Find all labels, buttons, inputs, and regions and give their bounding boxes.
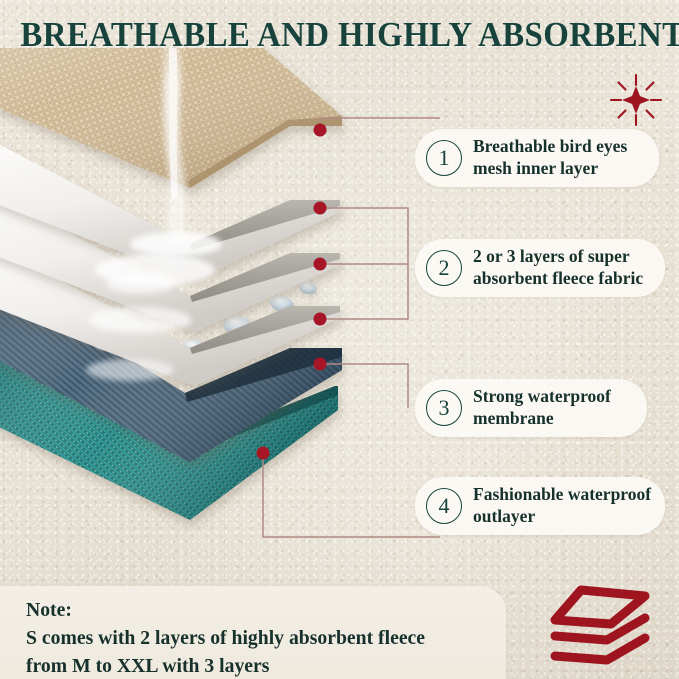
callout-3-line-1: Strong waterproof	[473, 386, 611, 408]
callout-2-text: 2 or 3 layers of super absorbent fleece …	[473, 246, 643, 290]
callout-3[interactable]: 3 Strong waterproof membrane	[415, 379, 647, 437]
callout-4-line-2: outlayer	[473, 506, 651, 528]
note-line-2: from M to XXL with 3 layers	[26, 652, 425, 679]
callout-3-text: Strong waterproof membrane	[473, 386, 611, 430]
product-infographic: BREATHABLE AND HIGHLY ABSORBENT	[0, 0, 679, 679]
callout-1-line-2: mesh inner layer	[473, 158, 627, 180]
callout-2[interactable]: 2 2 or 3 layers of super absorbent fleec…	[415, 239, 665, 297]
sparkle-star-icon	[608, 72, 664, 128]
callout-4-line-1: Fashionable waterproof	[473, 484, 651, 506]
note-text: Note: S comes with 2 layers of highly ab…	[26, 596, 425, 679]
fabric-layers-illustration	[0, 48, 390, 548]
callout-2-line-1: 2 or 3 layers of super	[473, 246, 643, 268]
page-title: BREATHABLE AND HIGHLY ABSORBENT	[20, 15, 658, 55]
callout-3-line-2: membrane	[473, 408, 611, 430]
callout-2-line-2: absorbent fleece fabric	[473, 268, 643, 290]
callout-3-number: 3	[426, 390, 462, 426]
note-heading: Note:	[26, 596, 425, 624]
callout-4[interactable]: 4 Fashionable waterproof outlayer	[415, 477, 665, 535]
note-line-1: S comes with 2 layers of highly absorben…	[26, 624, 425, 652]
callout-2-number: 2	[426, 250, 462, 286]
callout-1-number: 1	[426, 140, 462, 176]
callout-1-line-1: Breathable bird eyes	[473, 136, 627, 158]
callout-1-text: Breathable bird eyes mesh inner layer	[473, 136, 627, 180]
callout-1[interactable]: 1 Breathable bird eyes mesh inner layer	[415, 129, 659, 187]
callout-4-number: 4	[426, 488, 462, 524]
callout-4-text: Fashionable waterproof outlayer	[473, 484, 651, 528]
stacked-layers-icon	[545, 578, 663, 674]
